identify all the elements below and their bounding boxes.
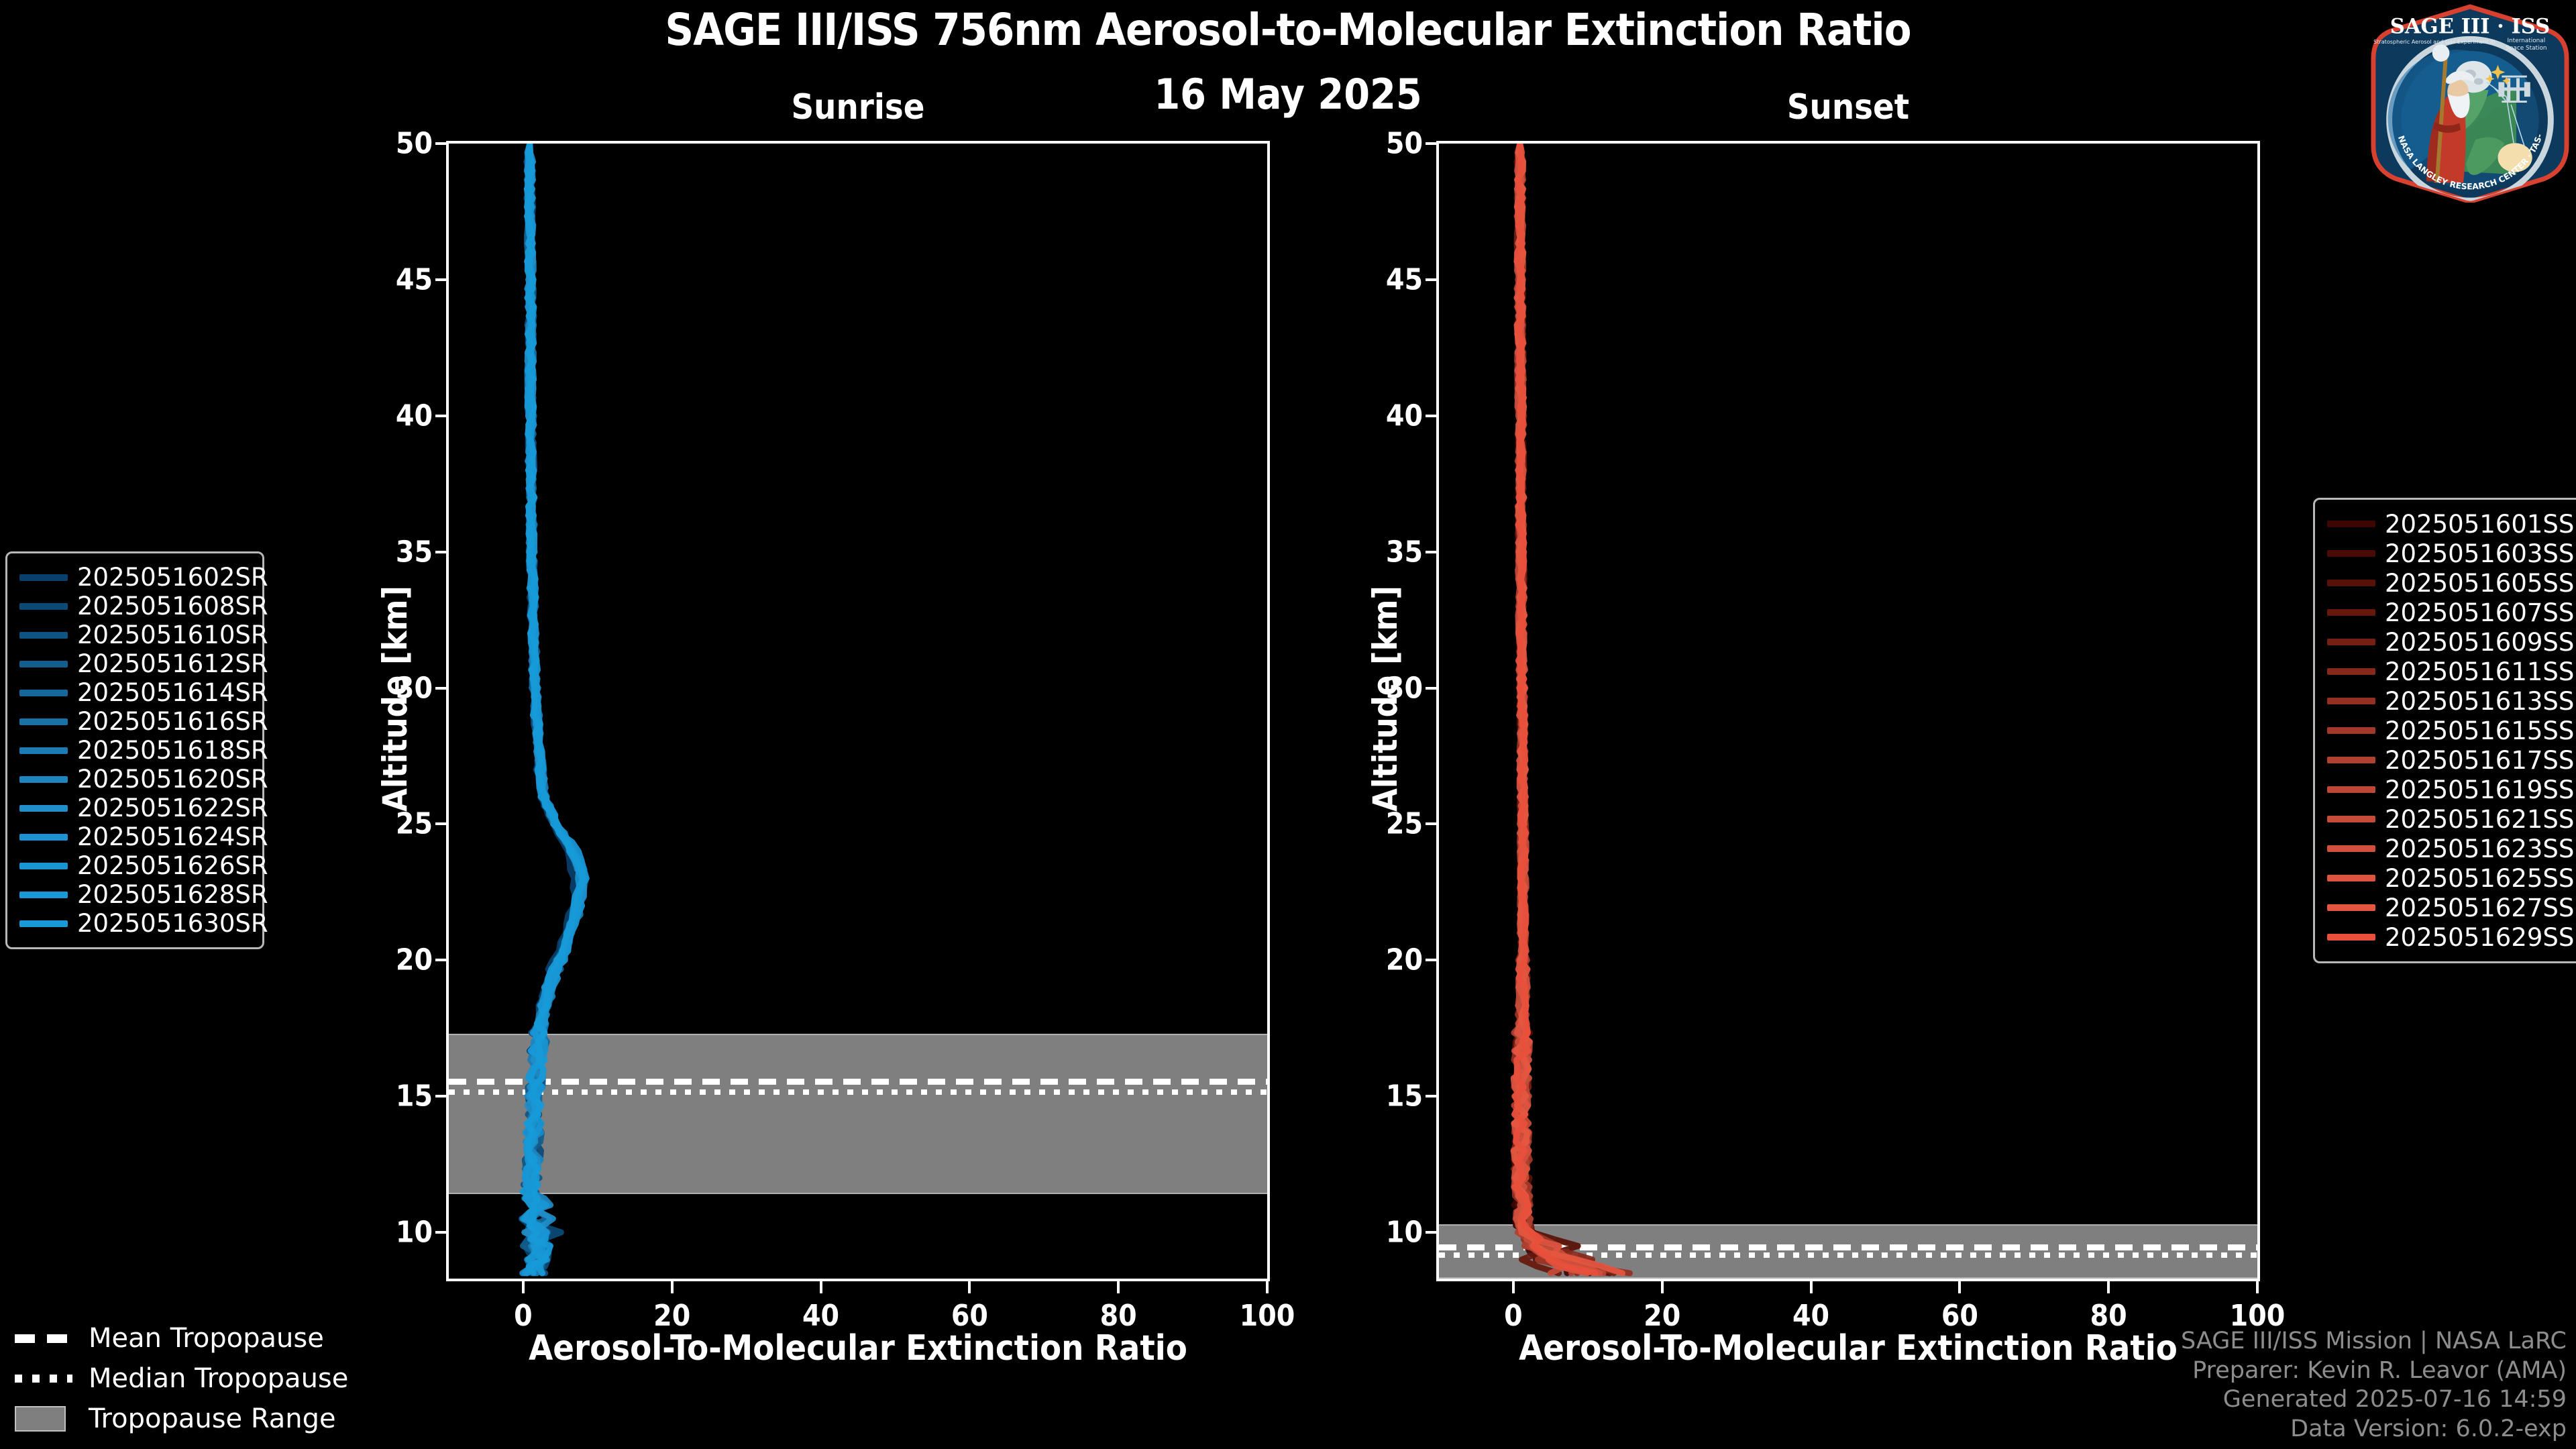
- tropopause-key: Mean Tropopause Median Tropopause Tropop…: [15, 1318, 348, 1439]
- legend-item[interactable]: 2025051616SR: [19, 707, 250, 736]
- y-tick-label: 50: [1342, 127, 1423, 161]
- legend-item[interactable]: 2025051623SS: [2327, 834, 2575, 863]
- legend-item-label: 2025051619SS: [2385, 775, 2574, 804]
- legend-item[interactable]: 2025051619SS: [2327, 775, 2575, 804]
- legend-item[interactable]: 2025051601SS: [2327, 509, 2575, 539]
- y-tick-mark: [435, 822, 447, 825]
- legend-color-swatch: [2327, 698, 2375, 704]
- legend-item-label: 2025051623SS: [2385, 835, 2574, 863]
- key-row-range: Tropopause Range: [15, 1399, 348, 1439]
- y-tick-mark: [435, 1095, 447, 1097]
- legend-item[interactable]: 2025051627SS: [2327, 893, 2575, 922]
- y-tick-label: 20: [1342, 943, 1423, 977]
- y-axis-label-sunrise: Altitude [km]: [376, 586, 415, 812]
- legend-item-label: 2025051605SS: [2385, 569, 2574, 598]
- legend-color-swatch: [19, 747, 68, 754]
- legend-color-swatch: [19, 574, 68, 581]
- series-layer: [449, 144, 1267, 1279]
- y-tick-label: 25: [1342, 807, 1423, 841]
- legend-color-swatch: [19, 632, 68, 639]
- plot-sunset: [1436, 141, 2260, 1281]
- x-tick-mark: [1958, 1281, 1961, 1293]
- legend-item-label: 2025051615SS: [2385, 716, 2574, 745]
- y-tick-label: 40: [1342, 398, 1423, 433]
- y-tick-label: 45: [352, 262, 433, 297]
- x-tick-mark: [820, 1281, 822, 1293]
- legend-color-swatch: [19, 690, 68, 696]
- legend-color-swatch: [19, 805, 68, 812]
- x-tick-mark: [1266, 1281, 1269, 1293]
- legend-color-swatch: [19, 661, 68, 667]
- y-tick-mark: [435, 142, 447, 145]
- y-tick-label: 15: [1342, 1079, 1423, 1114]
- legend-item-label: 2025051622SR: [77, 794, 268, 822]
- x-tick-mark: [1512, 1281, 1515, 1293]
- legend-color-swatch: [19, 603, 68, 610]
- legend-item-label: 2025051627SS: [2385, 894, 2574, 922]
- legend-item-label: 2025051614SR: [77, 678, 268, 707]
- legend-item[interactable]: 2025051620SR: [19, 765, 250, 794]
- legend-item[interactable]: 2025051621SS: [2327, 804, 2575, 834]
- x-tick-mark: [1117, 1281, 1120, 1293]
- y-tick-label: 45: [1342, 262, 1423, 297]
- legend-item[interactable]: 2025051615SS: [2327, 716, 2575, 745]
- legend-item[interactable]: 2025051605SS: [2327, 568, 2575, 598]
- legend-item[interactable]: 2025051610SR: [19, 621, 250, 649]
- legend-item-label: 2025051609SS: [2385, 628, 2574, 657]
- legend-color-swatch: [19, 892, 68, 898]
- plot-area-sunrise: [449, 144, 1267, 1279]
- key-row-median: Median Tropopause: [15, 1358, 348, 1399]
- page-title: SAGE III/ISS 756nm Aerosol-to-Molecular …: [0, 4, 2576, 56]
- mean-tropopause-dash-icon: [15, 1331, 72, 1346]
- legend-item-label: 2025051607SS: [2385, 598, 2574, 627]
- x-tick-mark: [968, 1281, 971, 1293]
- legend-item[interactable]: 2025051622SR: [19, 794, 250, 822]
- legend-item-label: 2025051602SR: [77, 563, 268, 592]
- series-line: [1514, 144, 1630, 1273]
- legend-item-label: 2025051616SR: [77, 707, 268, 736]
- x-tick-mark: [522, 1281, 525, 1293]
- key-row-mean: Mean Tropopause: [15, 1318, 348, 1358]
- footer-preparer: Preparer: Kevin R. Leavor (AMA): [2181, 1356, 2567, 1385]
- y-tick-label: 50: [352, 127, 433, 161]
- legend-color-swatch: [2327, 934, 2375, 941]
- legend-item-label: 2025051624SR: [77, 822, 268, 851]
- x-tick-mark: [2256, 1281, 2259, 1293]
- legend-item-label: 2025051608SR: [77, 592, 268, 621]
- legend-color-swatch: [2327, 727, 2375, 734]
- legend-color-swatch: [2327, 845, 2375, 852]
- y-tick-mark: [1426, 959, 1438, 961]
- legend-item-label: 2025051629SS: [2385, 923, 2574, 952]
- y-tick-mark: [1426, 278, 1438, 281]
- legend-item[interactable]: 2025051603SS: [2327, 539, 2575, 568]
- legend-item[interactable]: 2025051607SS: [2327, 598, 2575, 627]
- series-layer: [1439, 144, 2257, 1279]
- legend-color-swatch: [2327, 609, 2375, 616]
- key-label-mean: Mean Tropopause: [89, 1323, 324, 1354]
- y-tick-label: 40: [352, 398, 433, 433]
- legend-color-swatch: [2327, 580, 2375, 586]
- legend-item[interactable]: 2025051608SR: [19, 592, 250, 621]
- legend-item-label: 2025051612SR: [77, 649, 268, 678]
- legend-item-label: 2025051630SR: [77, 909, 268, 938]
- legend-color-swatch: [2327, 521, 2375, 527]
- legend-color-swatch: [2327, 875, 2375, 881]
- legend-item-label: 2025051610SR: [77, 621, 268, 649]
- plot-area-sunset: [1439, 144, 2257, 1279]
- legend-color-swatch: [19, 863, 68, 869]
- logo-subtitle-right-2: Space Station: [2506, 45, 2546, 52]
- legend-color-swatch: [2327, 550, 2375, 557]
- logo-title: SAGE III · ISS: [2390, 14, 2551, 38]
- footer-data-version: Data Version: 6.0.2-exp: [2181, 1415, 2567, 1444]
- legend-item[interactable]: 2025051617SS: [2327, 745, 2575, 775]
- x-axis-label-sunset: Aerosol-To-Molecular Extinction Ratio: [1436, 1328, 2260, 1368]
- legend-color-swatch: [19, 776, 68, 783]
- legend-color-swatch: [2327, 668, 2375, 675]
- legend-item[interactable]: 2025051628SR: [19, 880, 250, 909]
- tropopause-range-swatch-icon: [15, 1411, 72, 1426]
- legend-item[interactable]: 2025051613SS: [2327, 686, 2575, 716]
- x-axis-label-sunrise: Aerosol-To-Molecular Extinction Ratio: [446, 1328, 1270, 1368]
- footer-mission: SAGE III/ISS Mission | NASA LaRC: [2181, 1327, 2567, 1356]
- legend-item-label: 2025051626SR: [77, 851, 268, 880]
- legend-color-swatch: [2327, 757, 2375, 763]
- footer: SAGE III/ISS Mission | NASA LaRC Prepare…: [2181, 1327, 2567, 1444]
- legend-color-swatch: [19, 834, 68, 841]
- y-tick-mark: [1426, 687, 1438, 690]
- y-tick-mark: [435, 278, 447, 281]
- legend-sunrise[interactable]: 2025051602SR2025051608SR2025051610SR2025…: [5, 551, 264, 949]
- y-tick-mark: [1426, 1231, 1438, 1234]
- x-tick-mark: [2107, 1281, 2110, 1293]
- legend-item-label: 2025051601SS: [2385, 510, 2574, 539]
- legend-color-swatch: [2327, 904, 2375, 911]
- legend-item-label: 2025051625SS: [2385, 864, 2574, 893]
- legend-item[interactable]: 2025051614SR: [19, 678, 250, 707]
- legend-item[interactable]: 2025051624SR: [19, 822, 250, 851]
- legend-item[interactable]: 2025051612SR: [19, 649, 250, 678]
- key-label-range: Tropopause Range: [89, 1403, 336, 1434]
- key-label-median: Median Tropopause: [89, 1363, 348, 1394]
- logo-subtitle-right-1: International: [2508, 38, 2546, 44]
- legend-item-label: 2025051603SS: [2385, 539, 2574, 568]
- legend-item-label: 2025051621SS: [2385, 805, 2574, 834]
- y-tick-mark: [435, 959, 447, 961]
- y-axis-label-sunset: Altitude [km]: [1366, 586, 1405, 812]
- legend-item-label: 2025051613SS: [2385, 687, 2574, 716]
- legend-item[interactable]: 2025051609SS: [2327, 627, 2575, 657]
- legend-item[interactable]: 2025051629SS: [2327, 922, 2575, 952]
- y-tick-label: 35: [352, 535, 433, 569]
- sage-iii-iss-mission-patch-logo: SAGE III · ISS Stratospheric Aerosol and…: [2369, 4, 2571, 203]
- x-tick-mark: [1810, 1281, 1813, 1293]
- legend-item[interactable]: 2025051611SS: [2327, 657, 2575, 686]
- x-tick-mark: [1661, 1281, 1664, 1293]
- panel-title-sunset: Sunset: [1436, 87, 2260, 127]
- y-tick-mark: [1426, 1095, 1438, 1097]
- plot-sunrise: [446, 141, 1270, 1281]
- legend-item-label: 2025051628SR: [77, 880, 268, 909]
- y-tick-label: 10: [352, 1216, 433, 1250]
- legend-item-label: 2025051620SR: [77, 765, 268, 794]
- y-tick-mark: [1426, 142, 1438, 145]
- y-tick-label: 25: [352, 807, 433, 841]
- y-tick-mark: [435, 1231, 447, 1234]
- legend-item[interactable]: 2025051618SR: [19, 736, 250, 765]
- legend-item[interactable]: 2025051602SR: [19, 563, 250, 592]
- y-tick-mark: [1426, 822, 1438, 825]
- legend-color-swatch: [2327, 816, 2375, 822]
- legend-sunset[interactable]: 2025051601SS2025051603SS2025051605SS2025…: [2313, 498, 2576, 963]
- legend-item[interactable]: 2025051625SS: [2327, 863, 2575, 893]
- x-tick-mark: [671, 1281, 674, 1293]
- panel-title-sunrise: Sunrise: [446, 87, 1270, 127]
- legend-item-label: 2025051618SR: [77, 736, 268, 765]
- y-tick-label: 35: [1342, 535, 1423, 569]
- legend-color-swatch: [2327, 786, 2375, 793]
- legend-color-swatch: [19, 718, 68, 725]
- legend-item[interactable]: 2025051630SR: [19, 909, 250, 938]
- y-tick-mark: [1426, 551, 1438, 553]
- legend-item[interactable]: 2025051626SR: [19, 851, 250, 880]
- y-tick-label: 15: [352, 1079, 433, 1114]
- y-tick-mark: [435, 415, 447, 417]
- median-tropopause-dot-icon: [15, 1371, 72, 1386]
- footer-generated: Generated 2025-07-16 14:59: [2181, 1385, 2567, 1414]
- legend-item-label: 2025051617SS: [2385, 746, 2574, 775]
- logo-subtitle-left: Stratospheric Aerosol and Gas Experiment…: [2373, 38, 2495, 45]
- legend-item-label: 2025051611SS: [2385, 657, 2574, 686]
- y-tick-mark: [435, 687, 447, 690]
- legend-color-swatch: [2327, 639, 2375, 645]
- y-tick-mark: [435, 551, 447, 553]
- y-tick-mark: [1426, 415, 1438, 417]
- legend-color-swatch: [19, 920, 68, 927]
- y-tick-label: 10: [1342, 1216, 1423, 1250]
- y-tick-label: 20: [352, 943, 433, 977]
